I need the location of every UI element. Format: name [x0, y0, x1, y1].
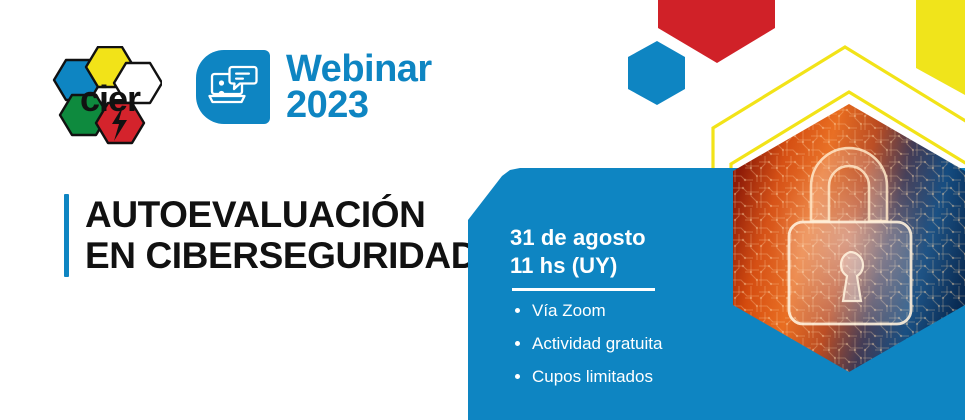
circuit-padlock-hexagon-image [733, 104, 965, 372]
laptop-webinar-icon [208, 65, 258, 109]
webinar-badge: Webinar 2023 [196, 50, 432, 124]
divider [512, 288, 655, 291]
blue-hexagon-decor [628, 41, 685, 105]
list-item: Actividad gratuita [510, 335, 662, 352]
webinar-icon-container [196, 50, 270, 124]
webinar-title-line2: 2023 [286, 87, 432, 123]
event-time: 11 hs (UY) [510, 252, 662, 280]
headline-line1: AUTOEVALUACIÓN [85, 194, 425, 235]
event-date: 31 de agosto [510, 225, 646, 250]
list-item: Vía Zoom [510, 302, 662, 319]
event-details-list: Vía Zoom Actividad gratuita Cupos limita… [510, 302, 662, 385]
info-panel-content: 31 de agosto 11 hs (UY) Vía Zoom Activid… [510, 224, 662, 401]
headline-accent-bar [64, 194, 69, 277]
headline-text: AUTOEVALUACIÓN EN CIBERSEGURIDAD [85, 194, 477, 277]
yellow-block-decor [916, 0, 965, 95]
webinar-banner: cier Webinar 2023 [0, 0, 965, 420]
list-item: Cupos limitados [510, 368, 662, 385]
event-datetime: 31 de agosto 11 hs (UY) [510, 224, 662, 279]
cier-wordmark: cier [80, 78, 140, 120]
headline-line2: EN CIBERSEGURIDAD [85, 235, 477, 276]
page-title: AUTOEVALUACIÓN EN CIBERSEGURIDAD [64, 194, 477, 277]
webinar-title: Webinar 2023 [286, 51, 432, 123]
